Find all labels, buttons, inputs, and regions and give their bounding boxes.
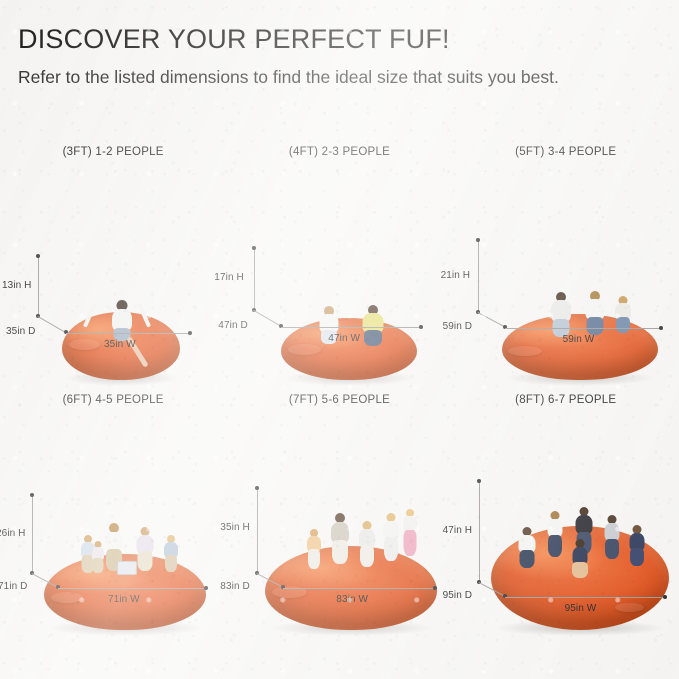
height-dimension-label: 17in H — [214, 272, 244, 283]
height-dimension-line — [254, 248, 255, 310]
person-legs — [93, 558, 104, 573]
person-legs — [630, 548, 644, 566]
width-dimension-line — [66, 333, 190, 334]
size-card-stage: 35in H 83in D 83in W — [226, 450, 452, 630]
person-silhouette — [128, 521, 160, 588]
height-dimension-dot-top — [477, 479, 481, 483]
people-group — [491, 505, 669, 584]
people-group — [44, 521, 206, 588]
beanbag-illustration-8ft — [491, 526, 669, 630]
size-card-stage: 17in H 47in D 47in W — [226, 200, 452, 380]
height-dimension-dot-top — [476, 238, 480, 242]
width-dimension-label: 59in W — [563, 334, 595, 345]
person-legs — [587, 317, 604, 335]
depth-dimension-label: 59in D — [443, 321, 473, 332]
size-card-stage: 26in H 71in D 71in W — [0, 450, 226, 630]
size-row-bottom: (6FT) 4-5 PEOPLE — [0, 386, 679, 636]
person-legs — [616, 317, 630, 333]
size-card-8ft[interactable]: (8FT) 6-7 PEOPLE — [453, 386, 679, 636]
width-dimension-dot-right — [419, 325, 423, 329]
person-arm-left — [83, 302, 97, 327]
size-comparison-grid: (3FT) 1-2 PEOPLE — [0, 138, 679, 636]
person-legs — [548, 535, 562, 557]
size-card-label: (8FT) 6-7 PEOPLE — [453, 394, 679, 406]
beanbag-illustration-6ft — [44, 554, 206, 630]
person-silhouette — [608, 290, 639, 343]
size-card-label: (7FT) 5-6 PEOPLE — [226, 394, 452, 406]
person-legs — [360, 545, 374, 567]
header: DISCOVER YOUR PERFECT FUF! Refer to the … — [18, 24, 661, 90]
height-dimension-dot-top — [252, 246, 256, 250]
depth-dimension-label: 47in D — [218, 320, 248, 331]
person-legs — [137, 551, 152, 571]
size-card-label: (3FT) 1-2 PEOPLE — [0, 146, 226, 158]
height-dimension-label: 26in H — [0, 528, 26, 539]
people-group — [265, 507, 437, 584]
height-dimension-dot-top — [255, 486, 259, 490]
person-silhouette — [565, 505, 593, 584]
height-dimension-label: 35in H — [220, 522, 250, 533]
beanbag-illustration-5ft — [502, 314, 658, 380]
person-silhouette — [86, 521, 110, 588]
page-subtitle: Refer to the listed dimensions to find t… — [18, 65, 578, 90]
person-legs — [308, 549, 320, 569]
width-dimension-dot-right — [659, 326, 663, 330]
depth-dimension-line — [477, 312, 504, 327]
person-legs — [364, 330, 382, 346]
person-legs — [572, 562, 588, 578]
person-legs — [165, 555, 177, 572]
width-dimension-label: 71in W — [108, 594, 140, 605]
size-card-5ft[interactable]: (5FT) 3-4 PEOPLE — [453, 138, 679, 386]
person-silhouette — [512, 505, 542, 584]
depth-dimension-line — [254, 310, 280, 326]
height-dimension-line — [38, 256, 39, 316]
size-card-stage: 21in H 59in D 59in W — [453, 200, 679, 380]
person-silhouette — [622, 505, 650, 584]
height-dimension-line — [479, 481, 480, 582]
width-dimension-line — [505, 597, 665, 598]
width-dimension-dot-right — [204, 586, 208, 590]
person-legs — [332, 540, 348, 564]
depth-dimension-label: 95in D — [443, 590, 473, 601]
page-title: DISCOVER YOUR PERFECT FUF! — [18, 24, 661, 55]
height-dimension-label: 13in H — [2, 280, 32, 291]
width-dimension-label: 83in W — [336, 594, 368, 605]
person-legs — [520, 550, 535, 568]
size-row-top: (3FT) 1-2 PEOPLE — [0, 138, 679, 386]
height-dimension-label: 47in H — [443, 525, 473, 536]
height-dimension-line — [32, 495, 33, 573]
size-card-stage: 47in H 95in D 95in W — [453, 450, 679, 630]
height-dimension-line — [478, 240, 479, 312]
size-card-7ft[interactable]: (7FT) 5-6 PEOPLE — [226, 386, 452, 636]
person-silhouette — [158, 521, 186, 588]
depth-dimension-label: 71in D — [0, 581, 28, 592]
width-dimension-line — [58, 588, 206, 589]
width-dimension-line — [281, 327, 421, 328]
person-silhouette — [396, 507, 424, 584]
size-card-label: (6FT) 4-5 PEOPLE — [0, 394, 226, 406]
height-dimension-dot-top — [30, 493, 34, 497]
height-dimension-dot-top — [36, 254, 40, 258]
depth-dimension-label: 35in D — [6, 326, 36, 337]
size-card-4ft[interactable]: (4FT) 2-3 PEOPLE — [226, 138, 452, 386]
size-card-label: (5FT) 3-4 PEOPLE — [453, 146, 679, 158]
width-dimension-label: 95in W — [565, 603, 597, 614]
person-legs — [605, 539, 619, 559]
person-legs — [403, 530, 416, 556]
size-card-label: (4FT) 2-3 PEOPLE — [226, 146, 452, 158]
depth-dimension-label: 83in D — [220, 581, 250, 592]
size-card-stage: 13in H 35in D 35in W — [0, 200, 226, 380]
height-dimension-label: 21in H — [441, 270, 471, 281]
width-dimension-dot-right — [663, 595, 667, 599]
width-dimension-line — [283, 588, 435, 589]
height-dimension-line — [257, 488, 258, 573]
beanbag-fold — [508, 346, 542, 357]
width-dimension-label: 35in W — [104, 339, 136, 350]
width-dimension-label: 47in W — [328, 333, 360, 344]
width-dimension-line — [505, 328, 661, 329]
size-card-3ft[interactable]: (3FT) 1-2 PEOPLE — [0, 138, 226, 386]
tablet-prop — [117, 561, 137, 575]
width-dimension-dot-right — [188, 331, 192, 335]
size-card-6ft[interactable]: (6FT) 4-5 PEOPLE — [0, 386, 226, 636]
